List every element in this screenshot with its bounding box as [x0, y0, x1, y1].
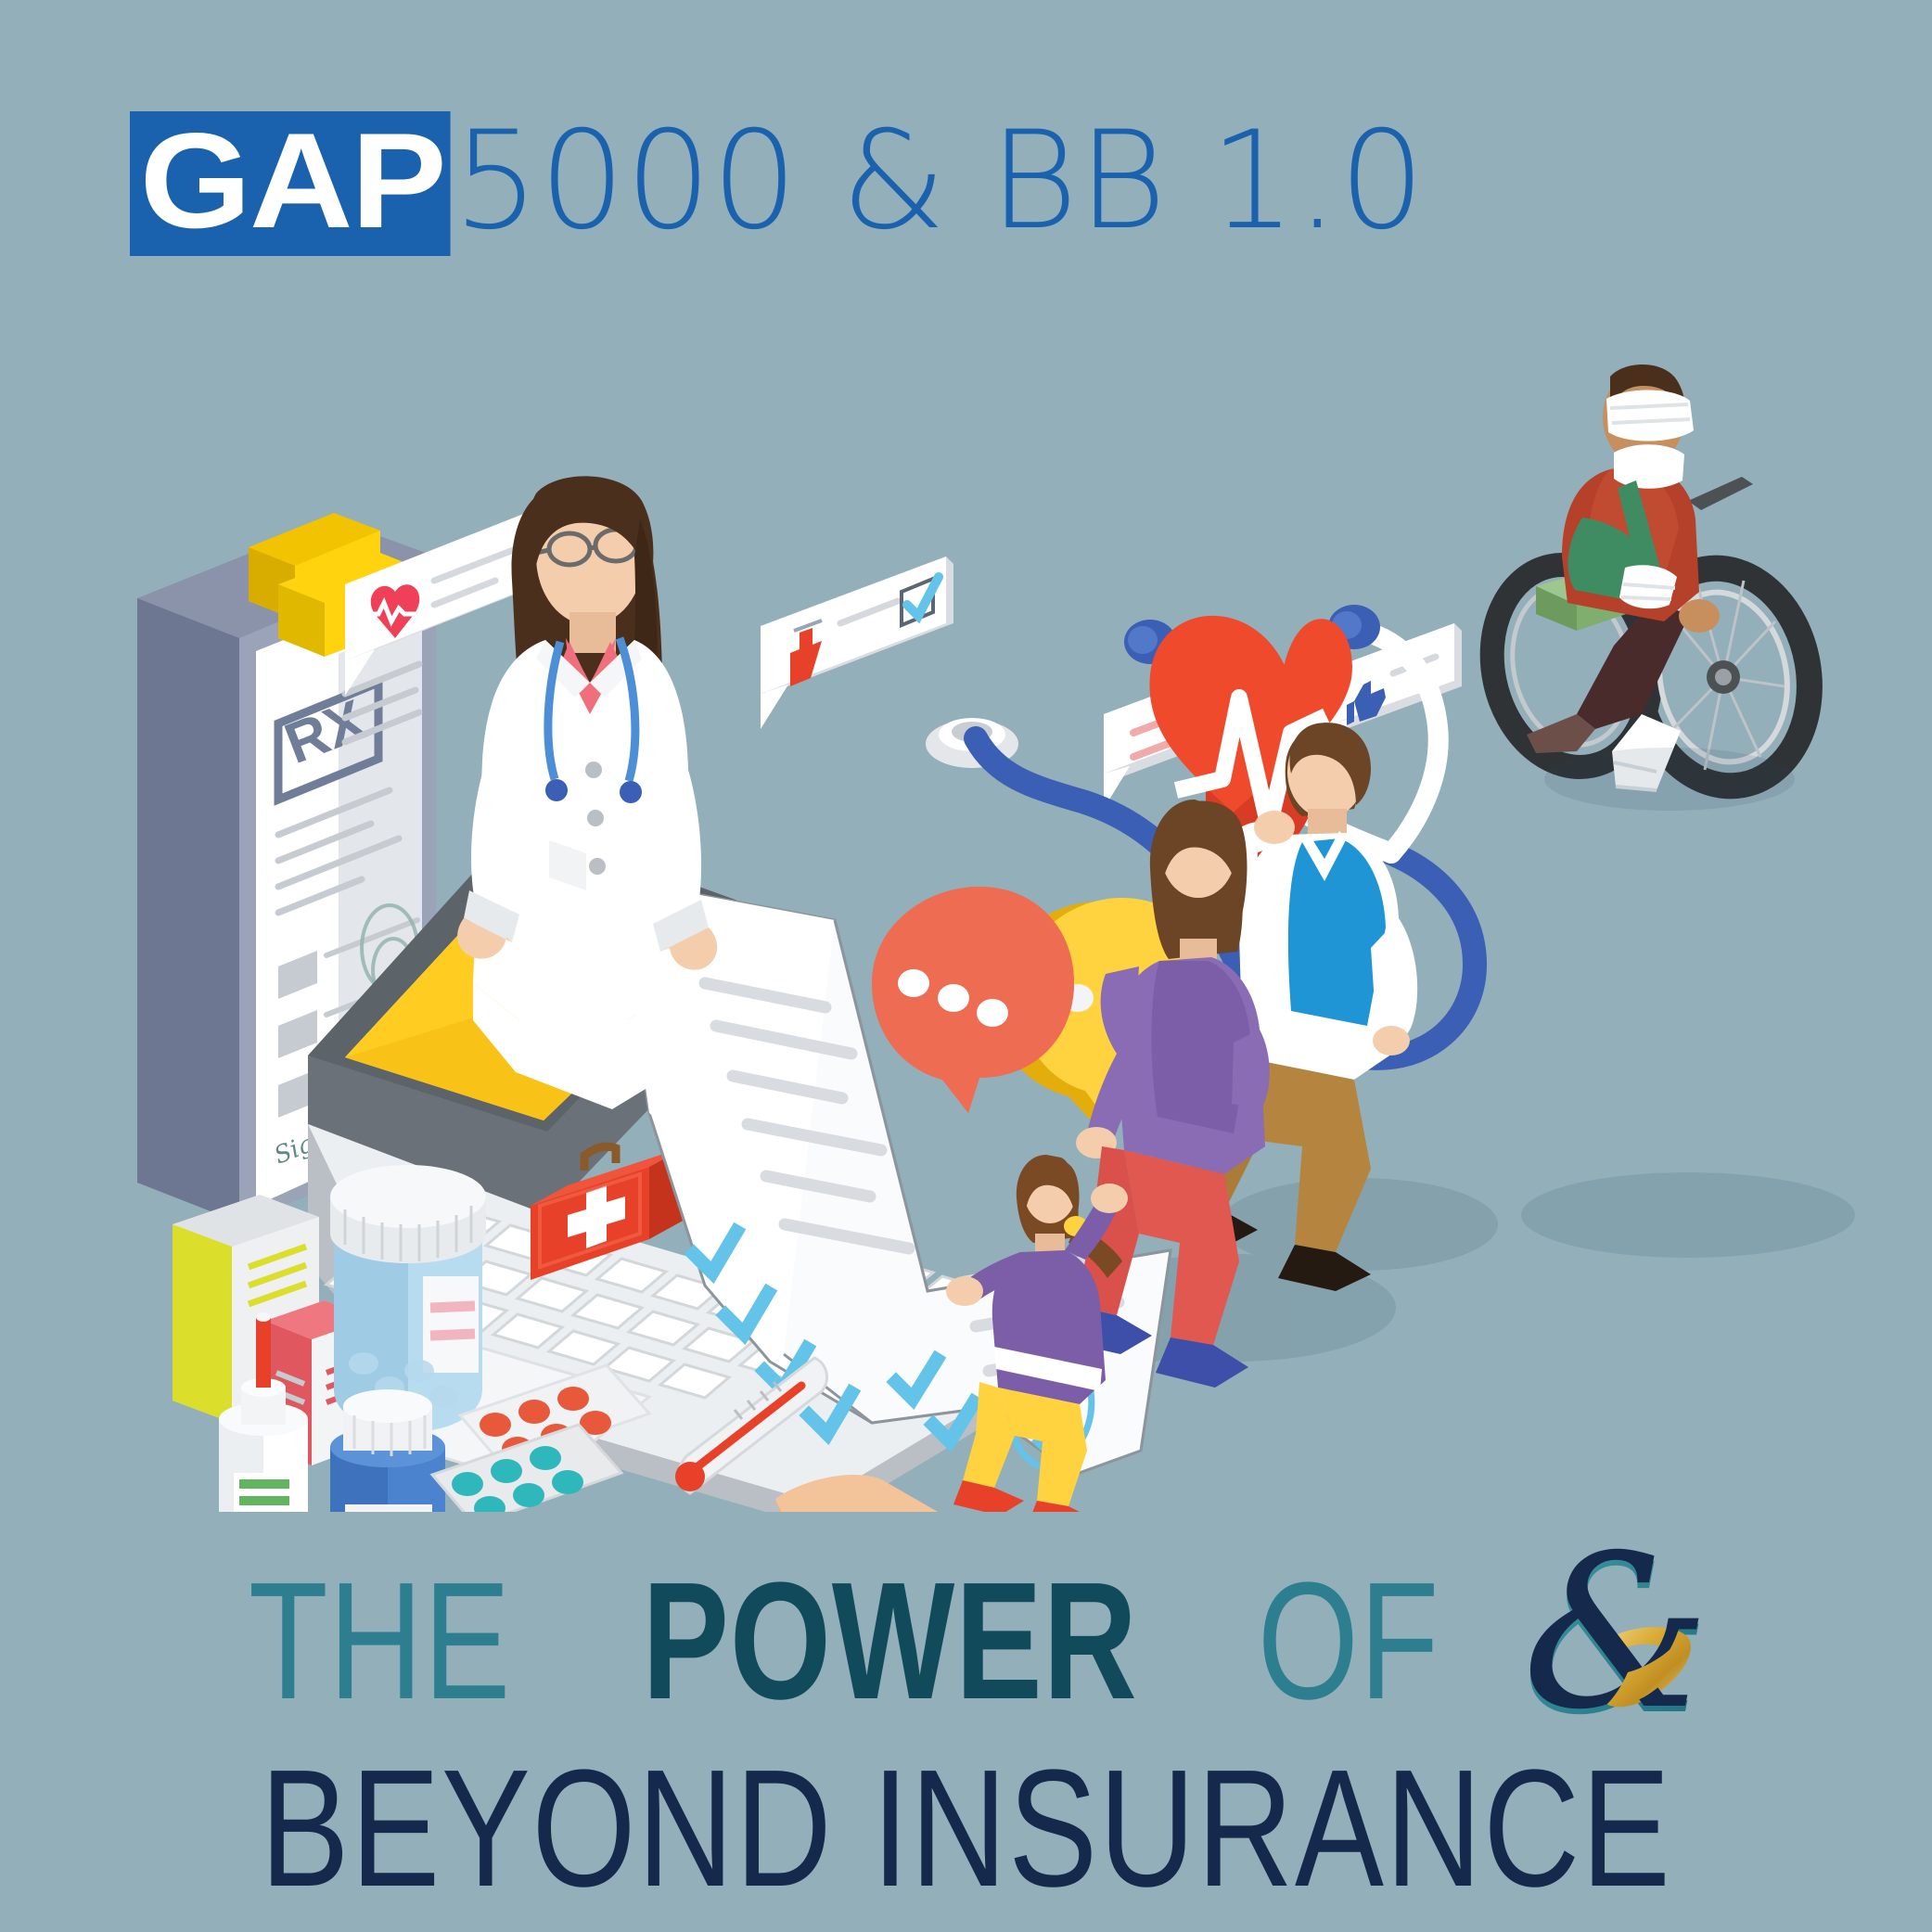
tagline-line-2: BEYOND INSURANCE — [193, 1746, 1738, 1913]
header-title-rest: 5000 & BB 1.0 — [453, 116, 1425, 248]
gap-logo-badge: GAP — [130, 111, 451, 256]
tagline-word-the: THE — [248, 1558, 510, 1725]
illustration: RX Signature — [0, 278, 1932, 1512]
chat-card-flask — [761, 557, 953, 729]
tagline-word-of: OF — [1257, 1558, 1439, 1725]
ampersand-logo: & & — [1489, 1524, 1721, 1756]
wheelchair-patient — [1474, 365, 1826, 811]
header-title: GAP 5000 & BB 1.0 — [130, 111, 1425, 256]
tagline-line-1: THE POWER OF — [0, 1530, 1932, 1753]
tagline-word-power: POWER — [642, 1558, 1137, 1725]
poster-canvas: GAP 5000 & BB 1.0 — [0, 0, 1932, 1932]
footer-tagline: THE POWER OF — [0, 1530, 1932, 1913]
